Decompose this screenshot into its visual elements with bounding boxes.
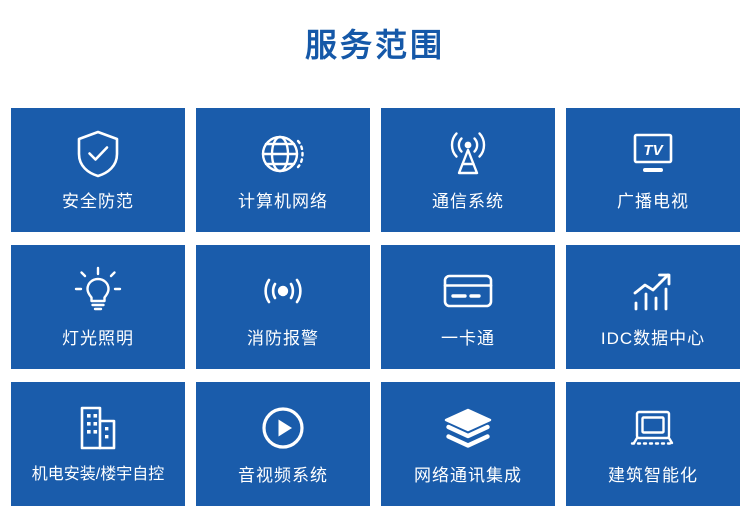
service-card-idc-data-center[interactable]: IDC数据中心: [566, 245, 740, 369]
service-card-broadcast-tv[interactable]: TV 广播电视: [566, 108, 740, 232]
light-bulb-icon: [11, 264, 185, 318]
tv-monitor-icon: TV: [566, 127, 740, 181]
service-card-label: 广播电视: [617, 193, 689, 210]
globe-icon: [196, 127, 370, 181]
service-card-label: 网络通讯集成: [414, 467, 522, 484]
service-card-computer-network[interactable]: 计算机网络: [196, 108, 370, 232]
service-card-label: 通信系统: [432, 193, 504, 210]
signal-sensor-icon: [196, 264, 370, 318]
service-card-label: 消防报警: [247, 330, 319, 347]
service-card-label: 灯光照明: [62, 330, 134, 347]
service-card-mep-building-automation[interactable]: 机电安装/楼宇自控: [11, 382, 185, 506]
layers-stack-icon: [381, 401, 555, 455]
service-scope-page: 服务范围 安全防范: [0, 0, 750, 512]
service-card-network-integration[interactable]: 网络通讯集成: [381, 382, 555, 506]
service-card-label: 安全防范: [62, 193, 134, 210]
service-card-security[interactable]: 安全防范: [11, 108, 185, 232]
service-card-label: 一卡通: [441, 330, 495, 347]
service-card-label: 计算机网络: [238, 193, 328, 210]
service-card-label: 建筑智能化: [608, 467, 698, 484]
page-title: 服务范围: [0, 0, 750, 61]
service-card-all-in-one-card[interactable]: 一卡通: [381, 245, 555, 369]
play-circle-icon: [196, 401, 370, 455]
growth-chart-icon: [566, 264, 740, 318]
broadcast-tower-icon: [381, 127, 555, 181]
screen-frame-icon: [566, 401, 740, 455]
service-card-communication[interactable]: 通信系统: [381, 108, 555, 232]
service-card-lighting[interactable]: 灯光照明: [11, 245, 185, 369]
building-icon: [11, 401, 185, 455]
shield-check-icon: [11, 127, 185, 181]
service-card-intelligent-building[interactable]: 建筑智能化: [566, 382, 740, 506]
service-card-av-system[interactable]: 音视频系统: [196, 382, 370, 506]
service-card-label: 机电安装/楼宇自控: [32, 467, 164, 483]
credit-card-icon: [381, 264, 555, 318]
service-card-fire-alarm[interactable]: 消防报警: [196, 245, 370, 369]
tv-label: TV: [643, 142, 664, 159]
service-card-label: 音视频系统: [238, 467, 328, 484]
service-card-label: IDC数据中心: [601, 330, 705, 347]
service-card-grid: 安全防范 计算机网络: [11, 108, 739, 506]
